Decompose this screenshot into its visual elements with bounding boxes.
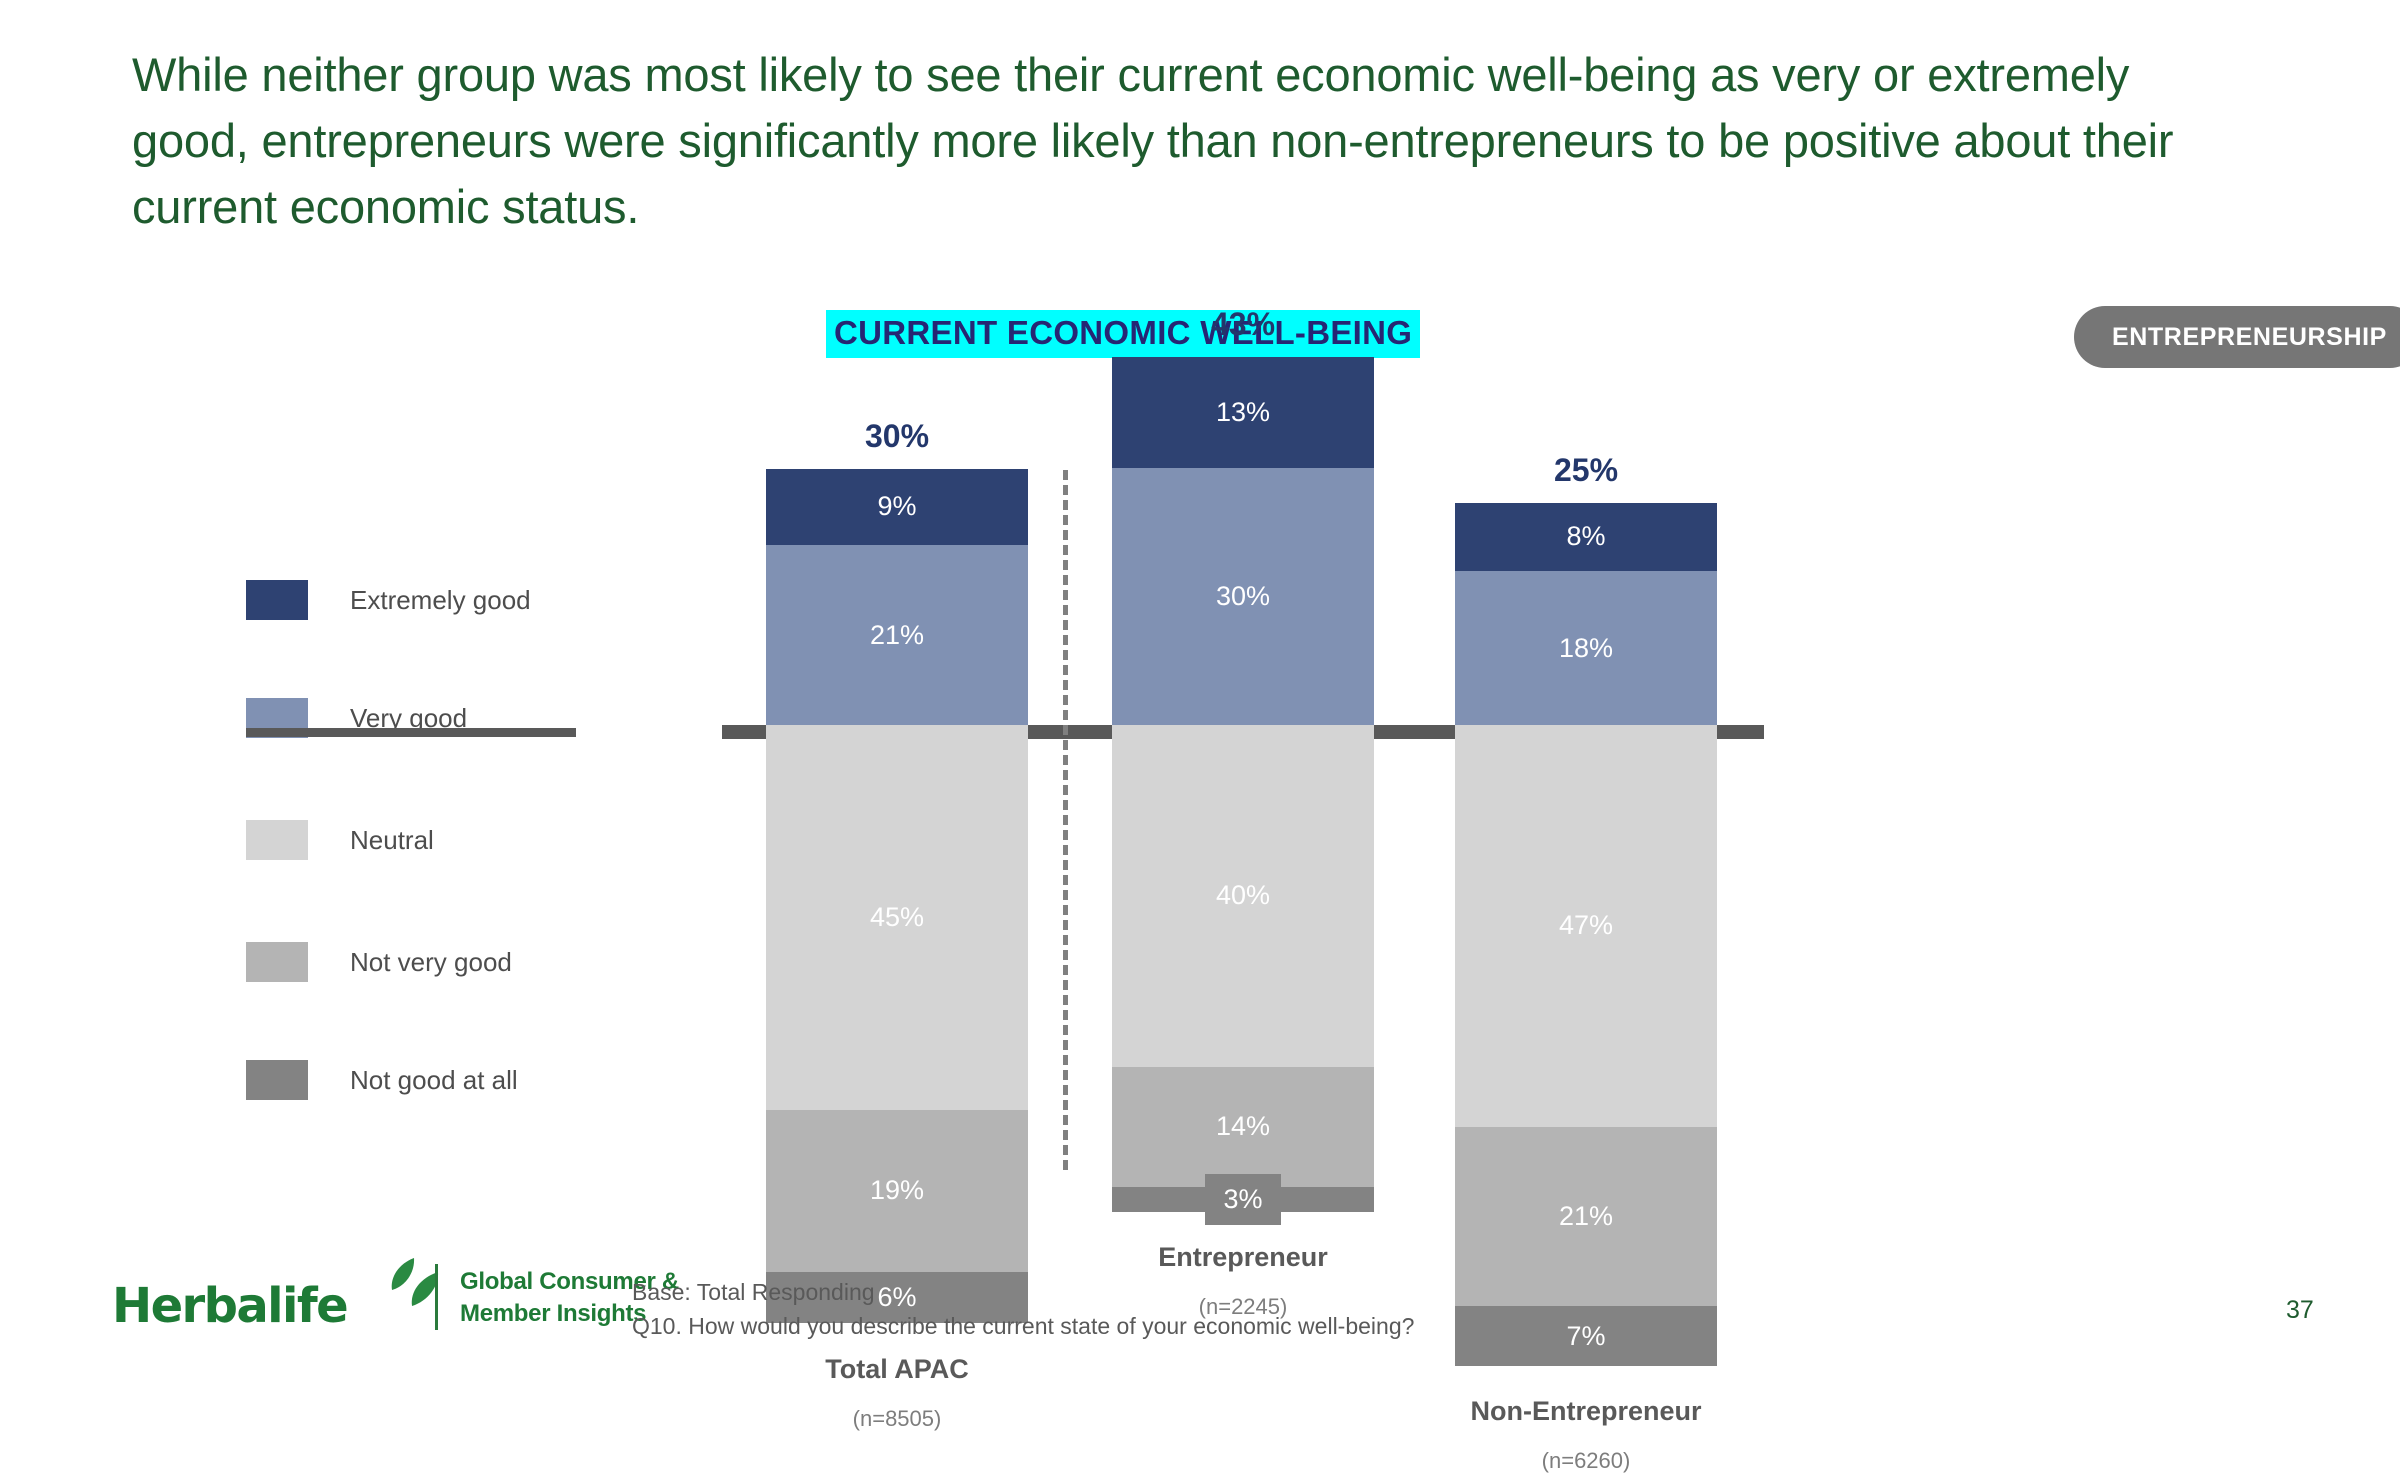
category-label: Non-Entrepreneur <box>1455 1396 1717 1427</box>
bar-segment[interactable]: 8% <box>1455 503 1717 571</box>
leaf-icon <box>352 1256 442 1316</box>
bar-segment[interactable]: 7% <box>1455 1306 1717 1366</box>
bar-segment-value: 40% <box>1216 882 1270 909</box>
legend-label: Extremely good <box>350 585 531 616</box>
bar-segment-value: 3% <box>1205 1174 1280 1225</box>
logo-wordmark: Herbalife <box>112 1278 347 1334</box>
legend-swatch-icon <box>246 942 308 982</box>
category-base-label: (n=8505) <box>766 1406 1028 1432</box>
base-note: Base: Total Responding <box>632 1275 1414 1309</box>
bar-segment[interactable]: 47% <box>1455 725 1717 1127</box>
legend-item-neutral[interactable]: Neutral <box>246 818 434 862</box>
bar-stack: 9%21%45%19%6% <box>766 469 1028 1324</box>
bar-segment-value: 18% <box>1559 635 1613 662</box>
bar-segment[interactable]: 21% <box>1455 1127 1717 1307</box>
bar-segment[interactable]: 9% <box>766 469 1028 546</box>
top2box-label: 30% <box>766 418 1028 455</box>
legend-label: Not very good <box>350 947 512 978</box>
legend-swatch-icon <box>246 820 308 860</box>
bar-segment-value: 9% <box>877 493 916 520</box>
herbalife-logo: Herbalife Global Consumer & Member Insig… <box>112 1258 582 1338</box>
legend-item-not-good-at-all[interactable]: Not good at all <box>246 1058 518 1102</box>
bar-stack: 13%30%40%14%3% <box>1112 357 1374 1212</box>
bar-segment[interactable]: 40% <box>1112 725 1374 1067</box>
bar-column-entrepreneur[interactable]: 43% 13%30%40%14%3% Entrepreneur (n=2245) <box>1112 357 1374 1212</box>
question-note: Q10. How would you describe the current … <box>632 1309 1414 1343</box>
bar-segment[interactable]: 13% <box>1112 357 1374 468</box>
logo-divider <box>435 1264 438 1330</box>
bar-segment-value: 45% <box>870 904 924 931</box>
bar-segment[interactable]: 45% <box>766 725 1028 1110</box>
legend-swatch-icon <box>246 580 308 620</box>
category-base-label: (n=6260) <box>1455 1448 1717 1474</box>
legend-item-extremely-good[interactable]: Extremely good <box>246 578 531 622</box>
status-badge: ENTREPRENEURSHIP <box>2074 306 2400 368</box>
bar-segment[interactable]: 19% <box>766 1110 1028 1272</box>
bar-segment-value: 7% <box>1566 1323 1605 1350</box>
bar-segment[interactable]: 14% <box>1112 1067 1374 1187</box>
category-label: Entrepreneur <box>1112 1242 1374 1273</box>
category-label: Total APAC <box>766 1354 1028 1385</box>
bar-segment[interactable]: 21% <box>766 545 1028 725</box>
bar-segment-value: 8% <box>1566 523 1605 550</box>
bar-segment-value: 14% <box>1216 1113 1270 1140</box>
legend-swatch-icon <box>246 1060 308 1100</box>
bar-segment-value: 19% <box>870 1177 924 1204</box>
bar-column-non-entrepreneur[interactable]: 25% 8%18%47%21%7% Non-Entrepreneur (n=62… <box>1455 503 1717 1367</box>
source-note: Base: Total Responding Q10. How would yo… <box>632 1275 1414 1343</box>
bar-segment-value: 13% <box>1216 399 1270 426</box>
bar-segment[interactable]: 18% <box>1455 571 1717 725</box>
bar-segment-value: 30% <box>1216 583 1270 610</box>
bar-segment-value: 6% <box>877 1284 916 1311</box>
group-divider-dashed <box>1063 470 1068 1170</box>
bar-column-total-apac[interactable]: 30% 9%21%45%19%6% Total APAC (n=8505) <box>766 469 1028 1324</box>
bar-stack: 8%18%47%21%7% <box>1455 503 1717 1367</box>
legend-label: Neutral <box>350 825 434 856</box>
legend-label: Not good at all <box>350 1065 518 1096</box>
legend-divider-rule <box>246 728 576 737</box>
bar-segment-value: 21% <box>870 622 924 649</box>
top2box-label: 25% <box>1455 452 1717 489</box>
page-number: 37 <box>2286 1296 2314 1325</box>
bar-segment[interactable]: 3% <box>1112 1187 1374 1213</box>
bar-segment-value: 21% <box>1559 1203 1613 1230</box>
bar-segment-value: 47% <box>1559 912 1613 939</box>
top2box-label: 43% <box>1112 306 1374 343</box>
page-title: While neither group was most likely to s… <box>132 42 2202 240</box>
bar-segment[interactable]: 30% <box>1112 468 1374 725</box>
legend-item-not-very-good[interactable]: Not very good <box>246 940 512 984</box>
